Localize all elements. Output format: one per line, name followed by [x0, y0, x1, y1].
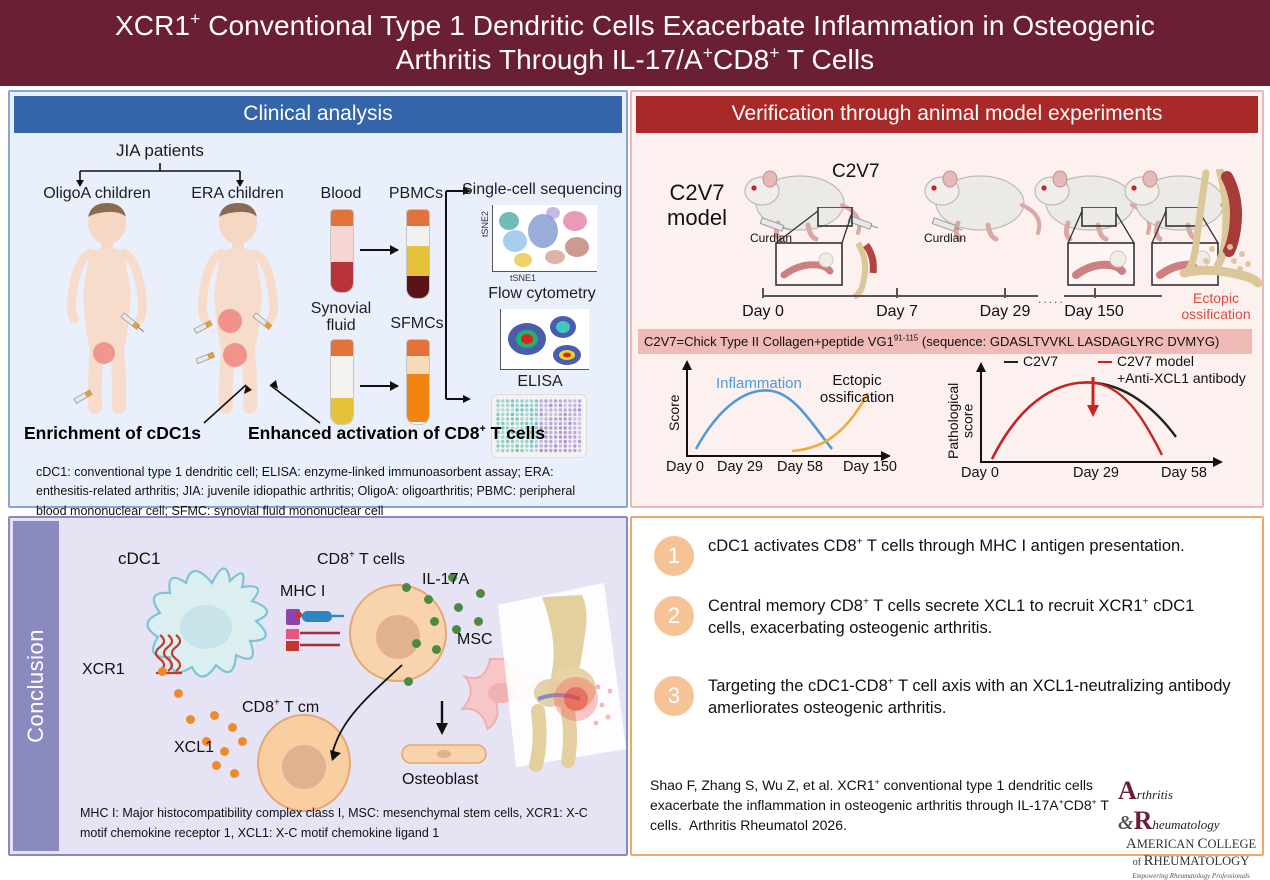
- label-jia-patients: JIA patients: [70, 141, 250, 161]
- patient-figure-oligoa: [52, 203, 162, 415]
- panel-conclusion: Conclusion: [8, 516, 628, 856]
- label-ectopic-ossification: Ectopicossification: [1172, 291, 1260, 322]
- key-point-text: Central memory CD8+ T cells secrete XCL1…: [708, 596, 1234, 640]
- timeline-axis-right: [1064, 295, 1162, 297]
- zoom-callout-day0: [770, 207, 910, 303]
- label-tsne2-axis: tSNE2: [480, 211, 490, 237]
- il17a-dot: [424, 595, 433, 604]
- xcl1-dot: [158, 667, 167, 676]
- citation-text: Shao F, Zhang S, Wu Z, et al. XCR1+ conv…: [650, 776, 1140, 836]
- panel-animal-model: Verification through animal model experi…: [630, 90, 1264, 508]
- acr-logo: Arthritis &Rheumatology AMERICAN COLLEGE…: [1118, 776, 1264, 880]
- il17a-dot: [454, 603, 463, 612]
- label-mhc-i: MHC I: [280, 583, 325, 601]
- chart2-legend-antibody: C2V7 model+Anti-XCL1 antibody: [1098, 353, 1248, 386]
- arrow-blood-to-pbmc: [360, 249, 398, 251]
- key-point-2: 2 Central memory CD8+ T cells secrete XC…: [654, 596, 1234, 640]
- knee-joint-illustration: [476, 571, 636, 781]
- tsne-plot: [492, 205, 597, 272]
- key-point-number: 1: [654, 536, 694, 576]
- xcl1-dot: [220, 747, 229, 756]
- legend-dash-antibody: [1098, 361, 1112, 363]
- tube-blood: [330, 209, 354, 293]
- animal-panel-body: C2V7model C2V7: [632, 133, 1262, 487]
- chart1-y-label: Score: [666, 381, 682, 445]
- label-blood: Blood: [306, 185, 376, 203]
- timeline-label-day7: Day 7: [864, 303, 930, 321]
- chart-pathological-score: Pathologicalscore C2V7 C2V7 model+Anti-X…: [932, 355, 1254, 485]
- chart2-xtick-day0: Day 0: [948, 465, 1012, 481]
- key-point-text: Targeting the cDC1-CD8+ T cell axis with…: [708, 676, 1234, 720]
- timeline-label-day0: Day 0: [730, 303, 796, 321]
- timeline-tick-day29: [1004, 288, 1006, 298]
- conclusion-body: cDC1 CD8+ T cells MHC I IL-17A MSC XCR1 …: [62, 521, 623, 851]
- il17a-dot: [412, 639, 421, 648]
- label-era-children: ERA children: [170, 185, 305, 203]
- timeline-tick-day7: [896, 288, 898, 298]
- timeline-label-day29: Day 29: [968, 303, 1042, 321]
- label-curdlan-day7: Curdlan: [924, 231, 966, 245]
- chart2-y-label: Pathologicalscore: [946, 381, 975, 461]
- clinical-panel-header: Clinical analysis: [14, 96, 622, 133]
- chart1-xtick-day0: Day 0: [656, 459, 714, 475]
- label-single-cell-sequencing: Single-cell sequencing: [462, 181, 630, 199]
- acr-logo-wordmark: Arthritis &Rheumatology: [1118, 776, 1264, 836]
- conclusion-side-tab: Conclusion: [13, 521, 59, 851]
- timeline-label-day150: Day 150: [1054, 303, 1134, 321]
- acr-logo-name-line1: AMERICAN COLLEGE: [1118, 836, 1264, 853]
- chart2-xtick-day58: Day 58: [1150, 465, 1218, 481]
- key-point-1: 1 cDC1 activates CD8+ T cells through MH…: [654, 536, 1234, 576]
- xcl1-dot: [228, 723, 237, 732]
- chart1-xtick-day29: Day 29: [708, 459, 772, 475]
- chart1-xtick-day150: Day 150: [834, 459, 906, 475]
- chart1-series-label-ossification: Ectopicossification: [810, 373, 904, 406]
- timeline-axis: [762, 295, 1038, 297]
- acr-logo-name-line2: of RHEUMATOLOGY: [1118, 853, 1264, 870]
- label-flow-cytometry: Flow cytometry: [462, 285, 622, 303]
- panel-clinical-analysis: Clinical analysis JIA patients OligoA ch…: [8, 90, 628, 508]
- animal-panel-header: Verification through animal model experi…: [636, 96, 1258, 133]
- label-il17a: IL-17A: [422, 571, 469, 589]
- label-cdc1: cDC1: [118, 549, 161, 569]
- chart2-legend-c2v7: C2V7: [1004, 353, 1058, 369]
- label-msc: MSC: [457, 631, 493, 649]
- label-xcr1: XCR1: [82, 661, 125, 679]
- timeline-tick-day0: [762, 288, 764, 298]
- chart-inflammation-ossification: Score Inflammation Ectopicossification D…: [642, 361, 928, 483]
- label-osteoblast: Osteoblast: [402, 771, 478, 789]
- xcl1-dot: [210, 711, 219, 720]
- xcl1-dot: [186, 715, 195, 724]
- page-title: XCR1+ Conventional Type 1 Dendritic Cell…: [85, 9, 1185, 77]
- tube-sfmc: [406, 339, 430, 425]
- osteoblast-differentiation-arrow: [432, 701, 452, 737]
- label-synovial-fluid: Synovialfluid: [302, 301, 380, 335]
- xcl1-dot: [174, 689, 183, 698]
- xcl1-dot: [238, 737, 247, 746]
- conclusion-footnote: MHC I: Major histocompatibility complex …: [80, 803, 610, 843]
- flow-cytometry-plot: [500, 309, 589, 370]
- chart1-xtick-day58: Day 58: [768, 459, 832, 475]
- il17a-dot: [476, 589, 485, 598]
- label-cd8-t-cm: CD8+ T cm: [242, 699, 319, 717]
- c2v7-definition-banner: C2V7=Chick Type II Collagen+peptide VG19…: [638, 329, 1252, 354]
- label-xcl1: XCL1: [174, 739, 214, 757]
- label-cd8-t-cells: CD8+ T cells: [317, 551, 405, 569]
- label-tsne1-axis: tSNE1: [510, 273, 536, 283]
- label-elisa: ELISA: [480, 373, 600, 391]
- label-c2v7-model: C2V7model: [642, 181, 752, 230]
- acr-logo-tagline: Empowering Rheumatology Professionals: [1118, 872, 1264, 880]
- il17a-dot: [474, 617, 483, 626]
- chart1-series-label-inflammation: Inflammation: [716, 375, 802, 392]
- caption-pointer-arrows: [200, 377, 370, 429]
- key-point-3: 3 Targeting the cDC1-CD8+ T cell axis wi…: [654, 676, 1234, 720]
- label-oligoa-children: OligoA children: [22, 185, 172, 203]
- key-point-number: 2: [654, 596, 694, 636]
- il17a-dot: [402, 583, 411, 592]
- tube-pbmc: [406, 209, 430, 299]
- clinical-footnote: cDC1: conventional type 1 dendritic cell…: [36, 463, 606, 521]
- legend-dash-c2v7: [1004, 361, 1018, 363]
- ectopic-ossification-figure: [1172, 169, 1262, 299]
- il17a-dot: [432, 645, 441, 654]
- caption-enrichment-cdc1s: Enrichment of cDC1s: [24, 423, 201, 444]
- il17a-dot: [404, 677, 413, 686]
- il17a-dot: [430, 617, 439, 626]
- timeline-tick-day150: [1094, 288, 1096, 298]
- key-point-number: 3: [654, 676, 694, 716]
- key-point-text: cDC1 activates CD8+ T cells through MHC …: [708, 536, 1185, 558]
- chart2-xtick-day29: Day 29: [1062, 465, 1130, 481]
- graphical-abstract-title-bar: XCR1+ Conventional Type 1 Dendritic Cell…: [0, 0, 1270, 86]
- xcl1-dot: [212, 761, 221, 770]
- xcl1-dot: [230, 769, 239, 778]
- clinical-panel-body: JIA patients OligoA children ERA childre…: [10, 133, 626, 487]
